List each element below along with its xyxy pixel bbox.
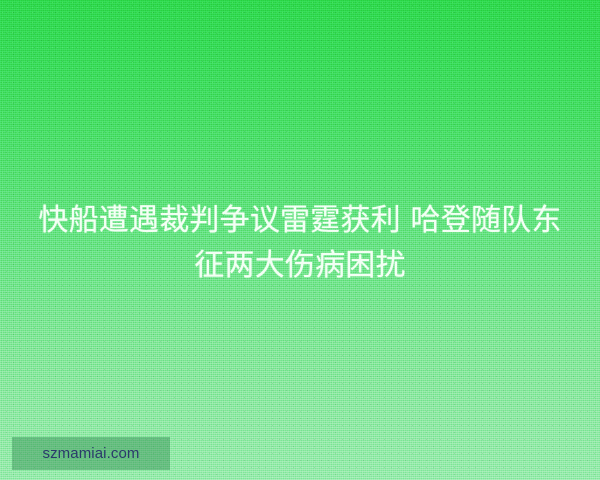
watermark-label: szmamiai.com <box>42 446 139 461</box>
image-card: 快船遭遇裁判争议雷霆获利 哈登随队东征两大伤病困扰 szmamiai.com <box>0 0 600 480</box>
watermark-badge: szmamiai.com <box>12 437 170 470</box>
headline-text: 快船遭遇裁判争议雷霆获利 哈登随队东征两大伤病困扰 <box>0 198 600 288</box>
